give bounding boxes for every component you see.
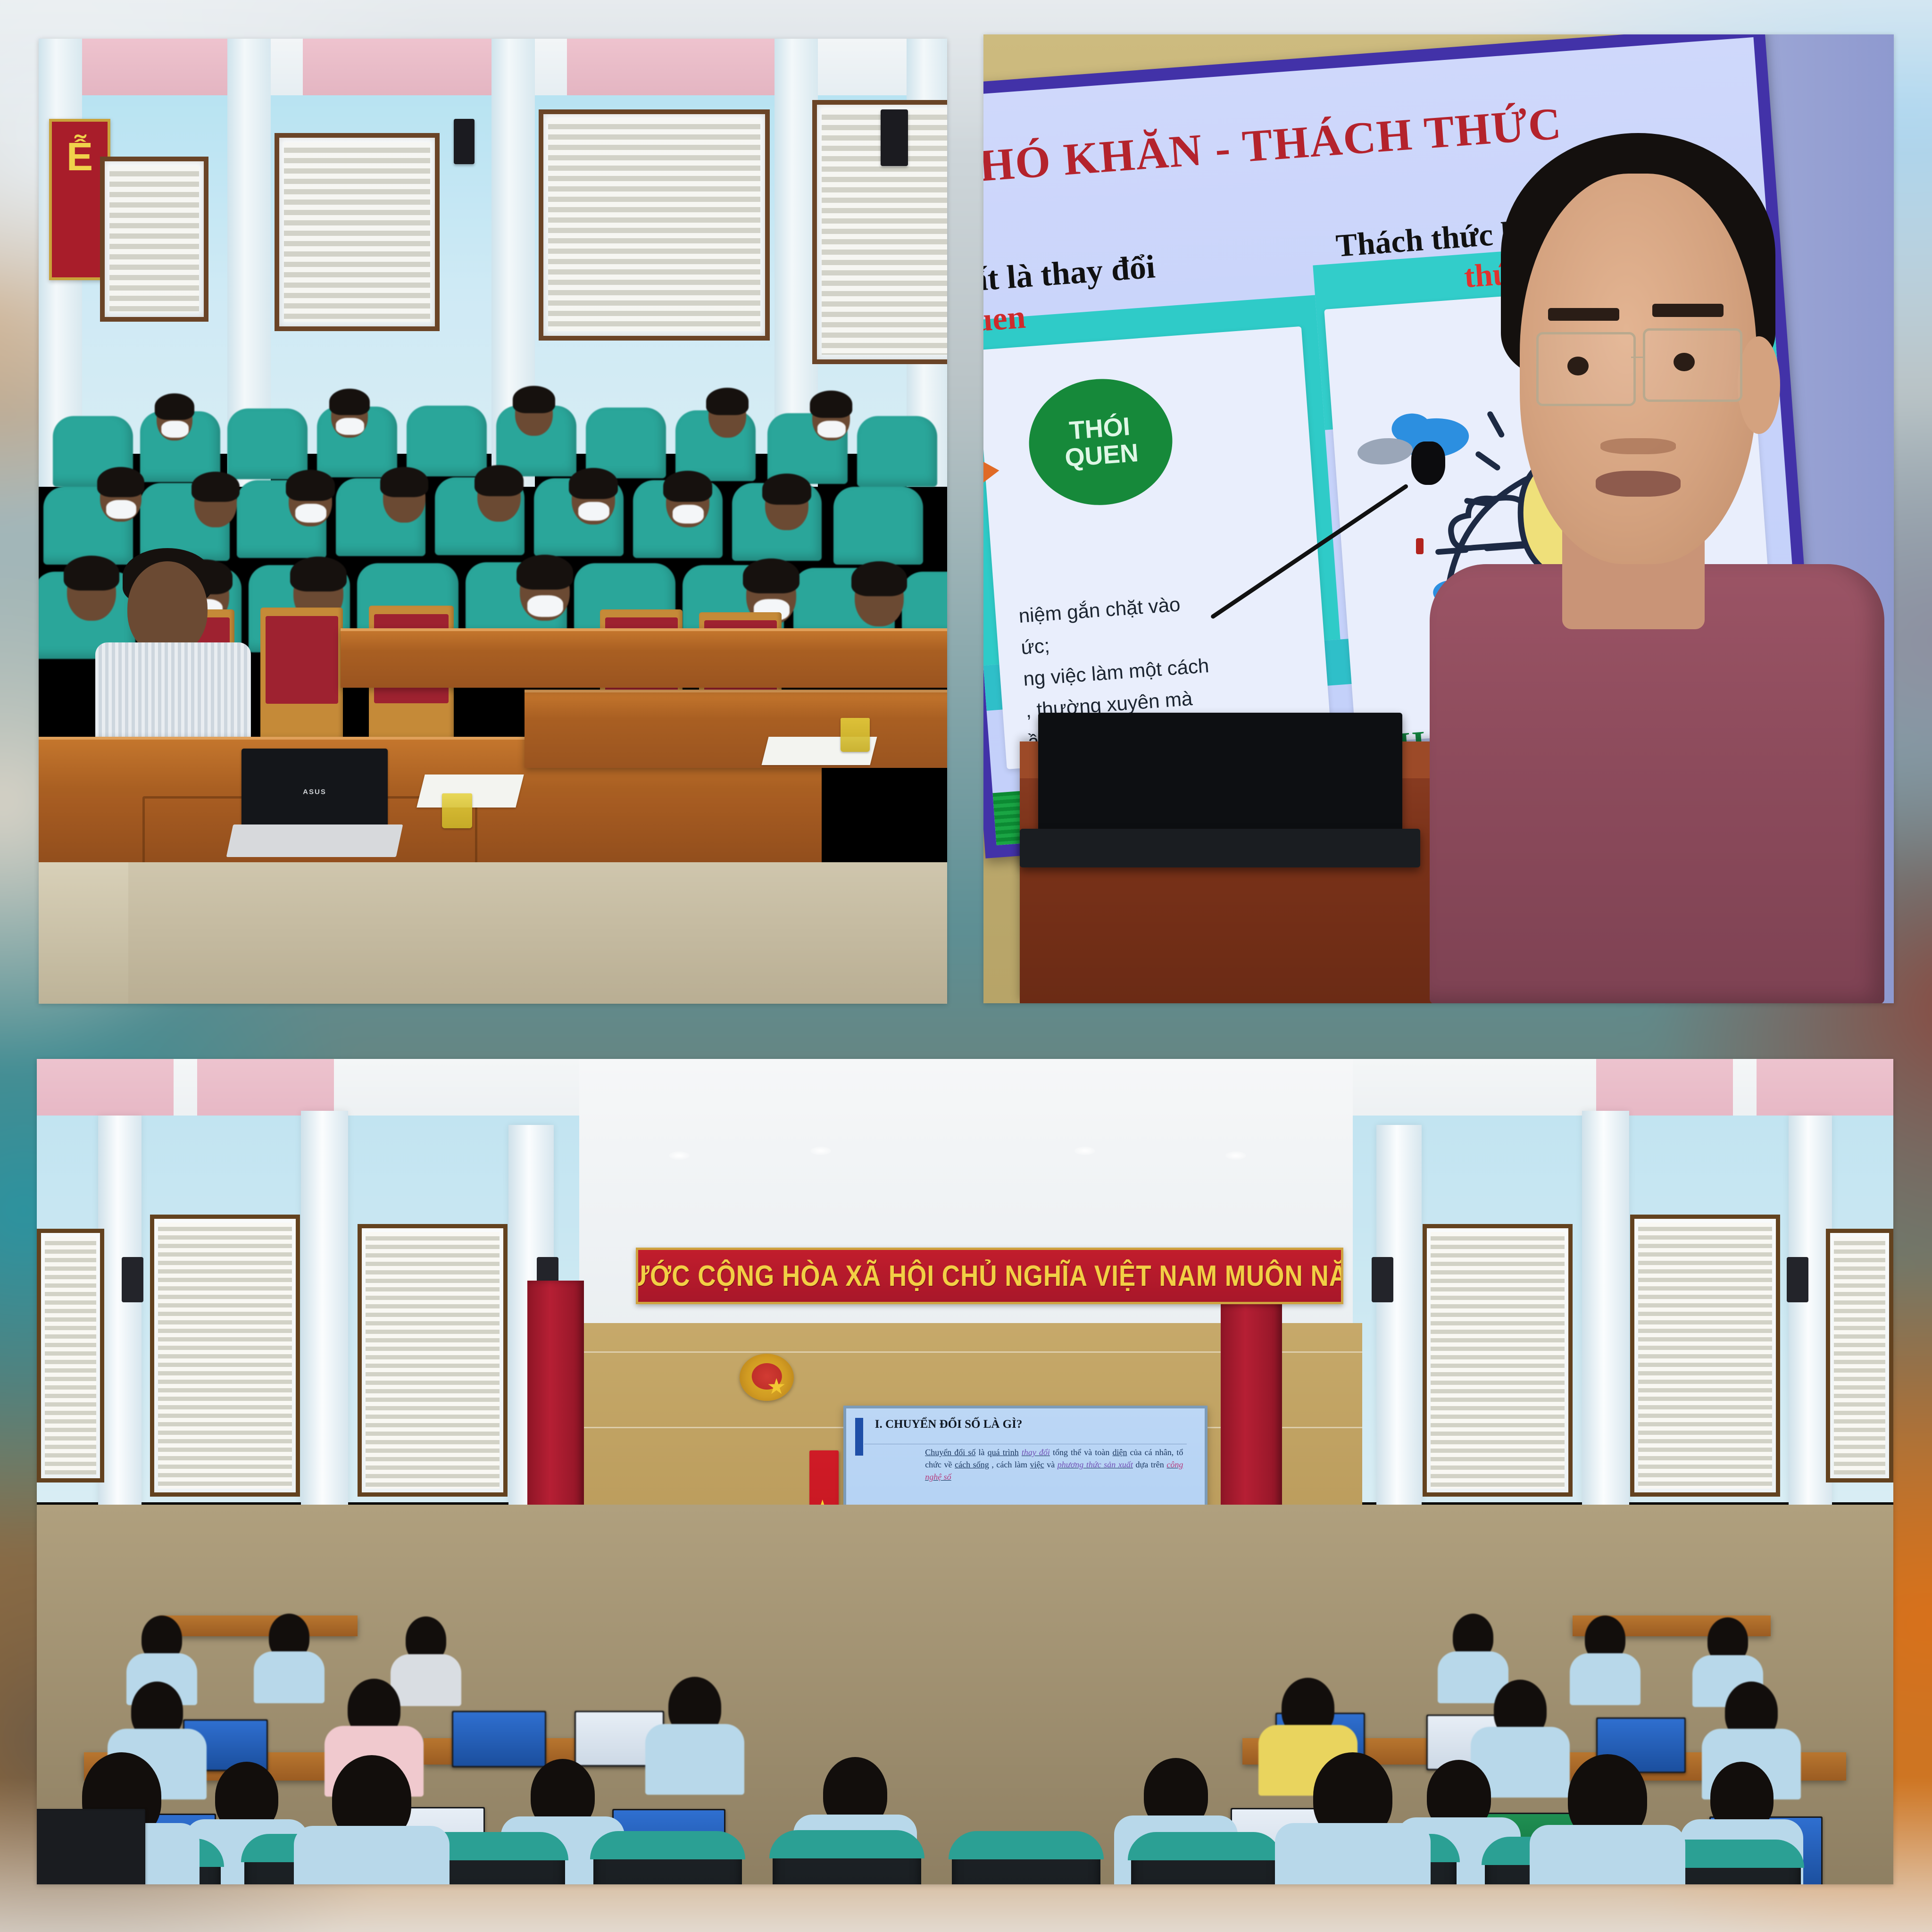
laptop-brand-label: ASUS [303, 788, 326, 796]
hall-banner-text: NƯỚC CỘNG HÒA XÃ HỘI CHỦ NGHĨA VIỆT NAM … [636, 1259, 1343, 1293]
podium-monitor [1038, 713, 1402, 849]
slide-title-bottom: I. CHUYỂN ĐỔI SỐ LÀ GÌ? [875, 1418, 1191, 1431]
photo-bottom: NƯỚC CỘNG HÒA XÃ HỘI CHỦ NGHĨA VIỆT NAM … [37, 1059, 1893, 1884]
hall-banner: NƯỚC CỘNG HÒA XÃ HỘI CHỦ NGHĨA VIỆT NAM … [636, 1248, 1343, 1304]
slide-body-bottom: Chuyển đổi số là quá trình thay đổi tổng… [925, 1446, 1183, 1483]
photo-top-left: Ễ [39, 39, 947, 1004]
photo-top-right: HÓ KHĂN - THÁCH THỨC ất là thay đổi uen … [983, 34, 1894, 1003]
national-emblem-icon: ★ [740, 1354, 794, 1401]
laptop-asus: ASUS [241, 749, 388, 857]
collage-canvas: Ễ [0, 0, 1932, 1932]
thoi-quen-badge: THÓI QUEN [1024, 374, 1177, 510]
speaker-person [1420, 141, 1894, 955]
